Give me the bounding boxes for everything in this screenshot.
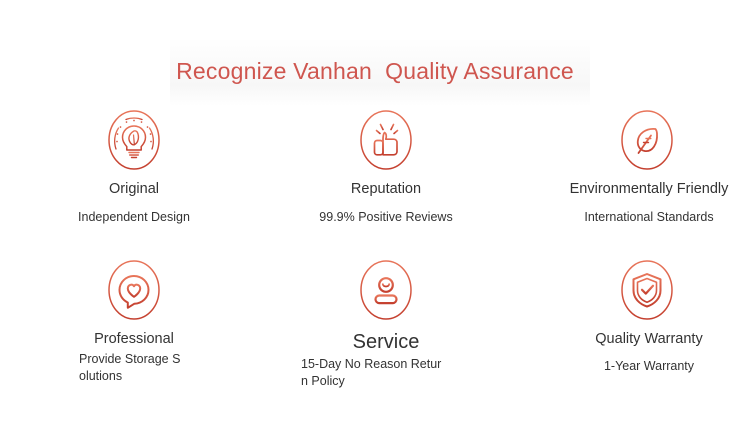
feature-grid: Original Independent Design [0,108,750,408]
feature-row-2: Professional Provide Storage S olutions [0,258,750,408]
feature-subtitle: International Standards [524,209,750,226]
heart-speech-bubble-icon [9,258,259,322]
leaf-icon [522,108,750,172]
feature-title: Professional [9,330,259,349]
feature-subtitle: 99.9% Positive Reviews [261,209,511,226]
feature-card-reputation[interactable]: Reputation 99.9% Positive Reviews [261,108,511,226]
feature-title: Quality Warranty [524,330,750,349]
feature-title: Environmentally Friendly [524,180,750,199]
feature-subtitle: Provide Storage S olutions [9,351,259,385]
feature-subtitle: 1-Year Warranty [524,358,750,375]
feature-title: Reputation [261,180,511,199]
feature-card-service[interactable]: Service 15-Day No Reason Retur n Policy [261,258,511,390]
feature-subtitle: 15-Day No Reason Retur n Policy [261,356,511,390]
feature-card-professional[interactable]: Professional Provide Storage S olutions [9,258,259,385]
lightbulb-leaf-icon [9,108,259,172]
feature-card-quality-warranty[interactable]: Quality Warranty 1-Year Warranty [518,258,750,375]
user-service-icon [261,258,511,322]
feature-title: Original [9,180,259,199]
feature-title: Service [261,330,511,354]
feature-row-1: Original Independent Design [0,108,750,258]
feature-subtitle: Independent Design [9,209,259,226]
thumbs-up-icon [261,108,511,172]
feature-card-original[interactable]: Original Independent Design [9,108,259,226]
quality-assurance-banner: Recognize Vanhan Quality Assurance [0,0,750,440]
feature-card-environmentally-friendly[interactable]: Environmentally Friendly International S… [518,108,750,226]
page-title: Recognize Vanhan Quality Assurance [0,56,750,86]
shield-check-icon [522,258,750,322]
